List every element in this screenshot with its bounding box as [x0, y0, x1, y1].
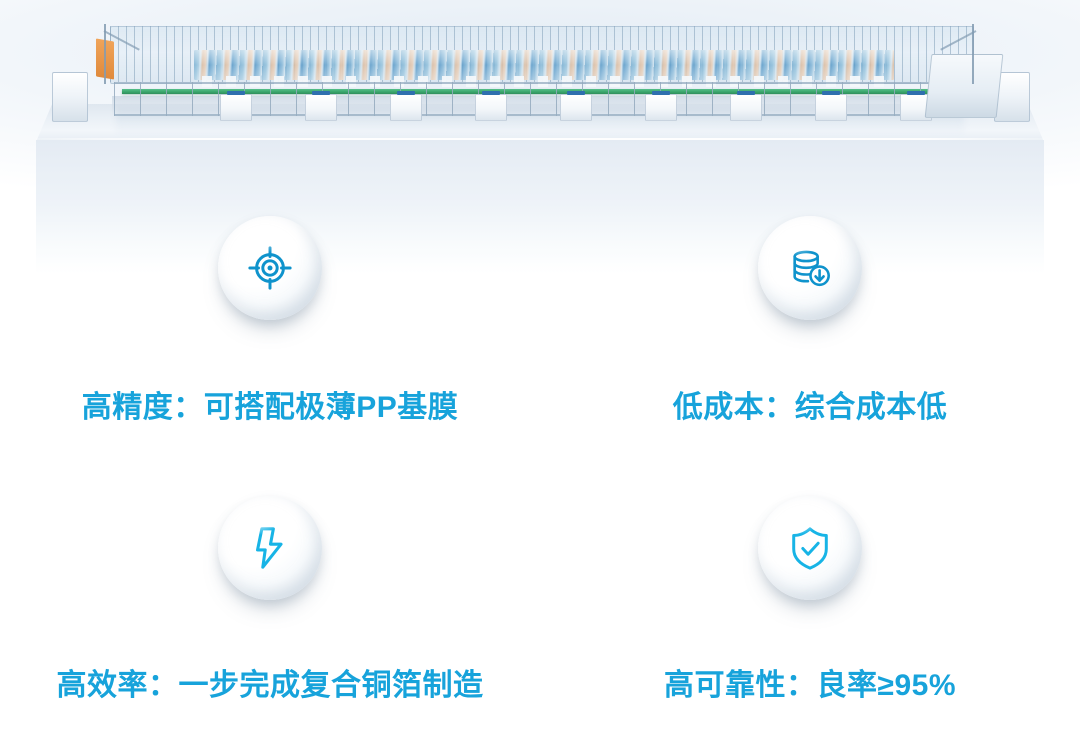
machine-cabinet — [390, 94, 422, 121]
machine-cabinet — [815, 94, 847, 121]
feature-label: 高效率：一步完成复合铜箔制造 — [57, 660, 484, 704]
machine-end-module-right — [925, 54, 1004, 118]
cost-down-coins-icon — [758, 216, 862, 320]
feature-label: 高精度：可搭配极薄PP基膜 — [82, 382, 459, 426]
machine-cabinet — [475, 94, 507, 121]
feature-highlights-page: 高精度：可搭配极薄PP基膜 低成本：综合成本低 — [0, 0, 1080, 751]
lightning-bolt-icon — [218, 496, 322, 600]
machine-cabinet — [560, 94, 592, 121]
feature-badge — [218, 216, 322, 320]
machine-cabinet — [220, 94, 252, 121]
feature-item-high-efficiency[interactable]: 高效率：一步完成复合铜箔制造 — [0, 474, 540, 751]
machine-cabinet — [645, 94, 677, 121]
production-line-machine — [52, 24, 1028, 134]
feature-badge — [218, 496, 322, 600]
shield-check-icon — [758, 496, 862, 600]
feature-grid: 高精度：可搭配极薄PP基膜 低成本：综合成本低 — [0, 196, 1080, 751]
feature-badge — [758, 216, 862, 320]
feature-item-high-reliability[interactable]: 高可靠性：良率≥95% — [540, 474, 1080, 751]
feature-item-high-precision[interactable]: 高精度：可搭配极薄PP基膜 — [0, 196, 540, 474]
machine-cabinet — [305, 94, 337, 121]
machine-cabinet — [730, 94, 762, 121]
feature-badge — [758, 496, 862, 600]
feature-label: 高可靠性：良率≥95% — [664, 660, 956, 704]
feature-label: 低成本：综合成本低 — [673, 382, 948, 426]
machine-end-tower-left — [52, 72, 88, 122]
feature-item-low-cost[interactable]: 低成本：综合成本低 — [540, 196, 1080, 474]
target-precision-icon — [218, 216, 322, 320]
